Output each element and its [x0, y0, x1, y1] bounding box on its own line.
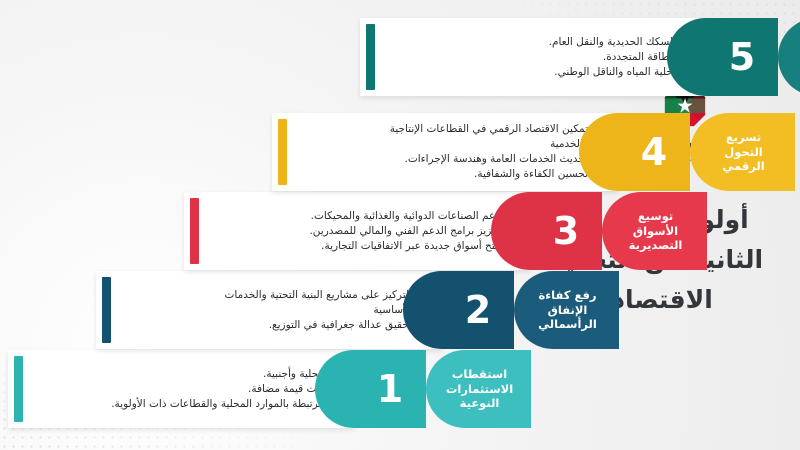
step-1-label-cap: استقطاب الاستثمارات النوعية	[426, 350, 531, 428]
bullet-item: ذات قيمة مضافة.	[22, 382, 324, 397]
step-3-content-card: دعم الصناعات الدوائية والغذائية والمحيكا…	[184, 192, 530, 270]
bullet-item: التركيز على مشاريع البنية التحتية والخدم…	[110, 288, 412, 303]
step-2-label-cap: رفع كفاءة الإنفاق الرأسمالي	[514, 271, 619, 349]
step-3-number-block: 3	[530, 192, 602, 270]
bullet-item: تعزيز برامج الدعم الفني والمالي للمصدرين…	[198, 224, 500, 239]
step-3-bullet-list: دعم الصناعات الدوائية والغذائية والمحيكا…	[184, 209, 514, 254]
step-1-label: استقطاب الاستثمارات النوعية	[436, 367, 521, 411]
step-4-label-cap: تسريع التحول الرقمي	[690, 113, 795, 191]
step-1-content-card: محلية وأجنبية.ذات قيمة مضافة.مرتبطة بالم…	[8, 350, 354, 428]
bullet-item: تحلية المياه والناقل الوطني.	[374, 65, 676, 80]
step-1-number-block: 1	[354, 350, 426, 428]
step-4-accent-bar	[278, 119, 287, 185]
step-1-accent-bar	[14, 356, 23, 422]
step-5-number: 5	[729, 38, 755, 76]
step-4-label: تسريع التحول الرقمي	[712, 130, 772, 174]
bullet-item: السكك الحديدية والنقل العام.	[374, 35, 676, 50]
step-2-bullet-list: التركيز على مشاريع البنية التحتية والخدم…	[96, 288, 426, 333]
step-5-label: تنفيذ المشاريع الكبرى	[796, 35, 800, 79]
step-4-bullet-list: تمكين الاقتصاد الرقمي في القطاعات الإنتا…	[272, 122, 602, 182]
bullet-item: فتح أسواق جديدة عبر الاتفاقيات التجارية.	[198, 239, 500, 254]
step-2-label: رفع كفاءة الإنفاق الرأسمالي	[528, 288, 605, 332]
step-4-content-card: تمكين الاقتصاد الرقمي في القطاعات الإنتا…	[272, 113, 618, 191]
infographic-canvas: استقطاب الاستثمارات النوعية1محلية وأجنبي…	[0, 0, 800, 450]
bullet-item: مرتبطة بالموارد المحلية والقطاعات ذات ال…	[22, 397, 324, 412]
step-1-number: 1	[377, 370, 403, 408]
step-2-accent-bar	[102, 277, 111, 343]
step-3-label-cap: توسيع الأسواق التصديرية	[602, 192, 707, 270]
step-5-accent-bar	[366, 24, 375, 90]
step-5-number-block: 5	[706, 18, 778, 96]
bullet-item: تحقيق عدالة جغرافية في التوزيع.	[110, 318, 412, 333]
step-5-bullet-list: السكك الحديدية والنقل العام.الطاقة المتج…	[360, 35, 690, 80]
bullet-item: والخدمية	[286, 137, 588, 152]
step-2-number: 2	[465, 291, 491, 329]
step-4-number: 4	[641, 133, 667, 171]
step-2-content-card: التركيز على مشاريع البنية التحتية والخدم…	[96, 271, 442, 349]
step-3-label: توسيع الأسواق التصديرية	[619, 209, 691, 253]
step-5[interactable]: تنفيذ المشاريع الكبرى5السكك الحديدية وال…	[360, 18, 800, 96]
bullet-item: الأساسية	[110, 303, 412, 318]
step-2-number-block: 2	[442, 271, 514, 349]
step-5-content-card: السكك الحديدية والنقل العام.الطاقة المتج…	[360, 18, 706, 96]
bullet-item: دعم الصناعات الدوائية والغذائية والمحيكا…	[198, 209, 500, 224]
bullet-item: محلية وأجنبية.	[22, 367, 324, 382]
bullet-item: تمكين الاقتصاد الرقمي في القطاعات الإنتا…	[286, 122, 588, 137]
step-3[interactable]: توسيع الأسواق التصديرية3دعم الصناعات الد…	[184, 192, 707, 270]
step-4-number-block: 4	[618, 113, 690, 191]
bullet-item: تحسين الكفاءة والشفافية.	[286, 167, 588, 182]
bullet-item: تحديث الخدمات العامة وهندسة الإجراءات.	[286, 152, 588, 167]
step-1[interactable]: استقطاب الاستثمارات النوعية1محلية وأجنبي…	[8, 350, 531, 428]
step-3-accent-bar	[190, 198, 199, 264]
step-2[interactable]: رفع كفاءة الإنفاق الرأسمالي2التركيز على …	[96, 271, 619, 349]
step-4[interactable]: تسريع التحول الرقمي4تمكين الاقتصاد الرقم…	[272, 113, 795, 191]
step-3-number: 3	[553, 212, 579, 250]
bullet-item: الطاقة المتجددة.	[374, 50, 676, 65]
staircase-steps: استقطاب الاستثمارات النوعية1محلية وأجنبي…	[0, 0, 800, 450]
step-1-bullet-list: محلية وأجنبية.ذات قيمة مضافة.مرتبطة بالم…	[8, 367, 338, 412]
